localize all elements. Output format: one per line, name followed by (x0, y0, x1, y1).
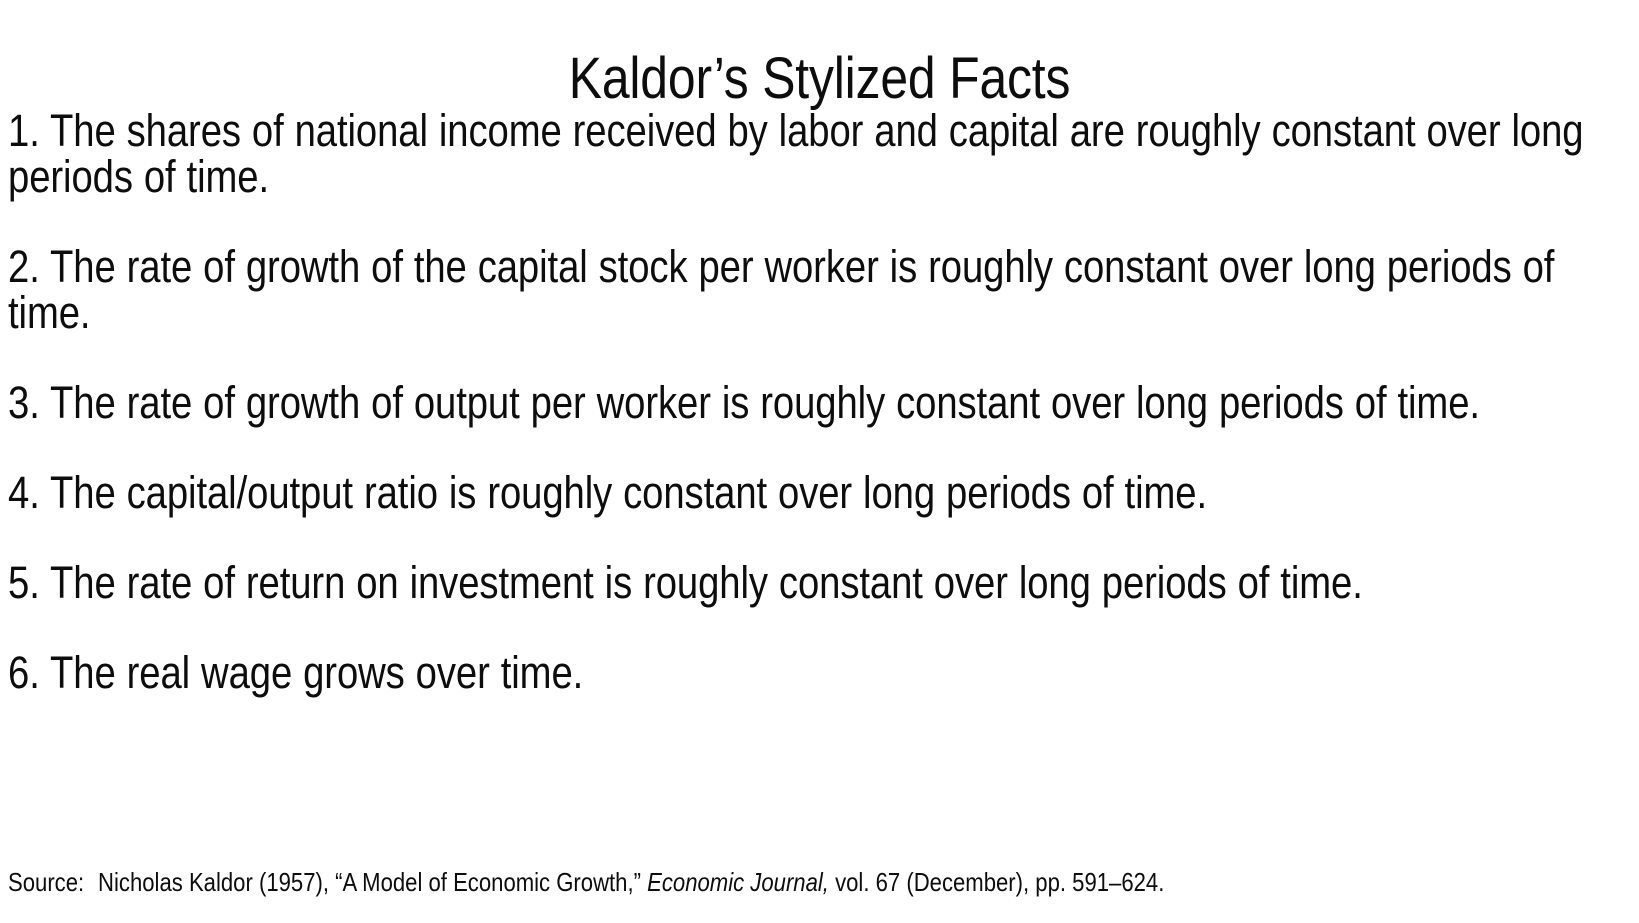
list-item: 3. The rate of growth of output per work… (8, 380, 1632, 426)
source-author-year: Nicholas Kaldor (1957), (98, 867, 329, 897)
source-citation: Source: Nicholas Kaldor (1957), “A Model… (8, 867, 1632, 897)
list-item: 5. The rate of return on investment is r… (8, 560, 1632, 606)
page-title: Kaldor’s Stylized Facts (115, 47, 1525, 111)
slide-canvas: Kaldor’s Stylized Facts 1. The shares of… (0, 0, 1639, 923)
source-label: Source: (8, 867, 84, 897)
source-volume: vol. 67 (December), (835, 867, 1029, 897)
source-article-title: “A Model of Economic Growth,” (335, 867, 641, 897)
list-item: 1. The shares of national income receive… (8, 108, 1632, 200)
source-pages: pp. 591–624. (1035, 867, 1164, 897)
source-journal-name: Economic Journal, (647, 867, 829, 897)
list-item: 2. The rate of growth of the capital sto… (8, 244, 1632, 336)
list-item: 6. The real wage grows over time. (8, 650, 1632, 696)
list-item: 4. The capital/output ratio is roughly c… (8, 470, 1632, 516)
stylized-facts-list: 1. The shares of national income receive… (8, 108, 1632, 696)
